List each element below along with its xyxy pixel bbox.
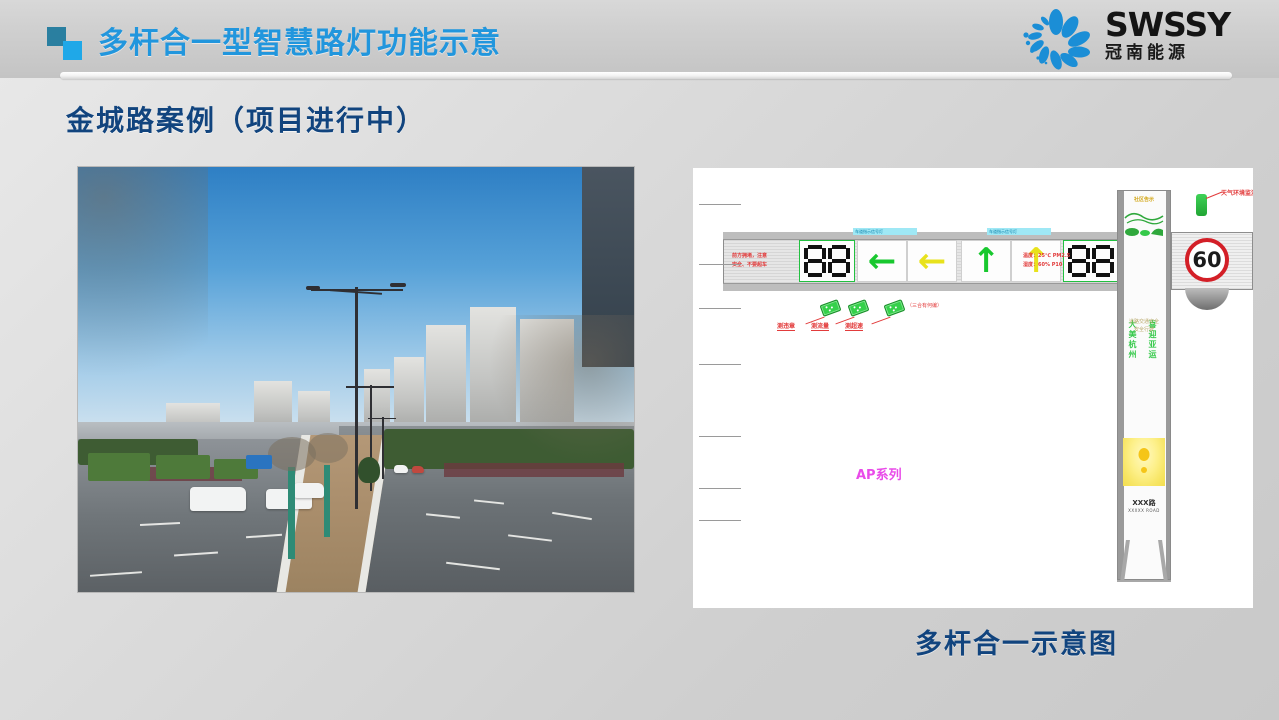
pole-segment-divider [699,520,741,521]
pole-grey-notice: 道路交通安全 安全行驶 [1123,318,1165,334]
pole-notice-title: 社区告示 [1123,196,1165,203]
lamp-dot-small [1141,467,1147,473]
photo-car-distant [394,465,408,473]
photo-hedge-bush [358,457,380,483]
photo-streetlamp-head [306,286,320,290]
photo-streetlamp-arm-second [346,386,394,388]
water-droplet-flower-icon [1013,8,1099,70]
photo-tree-trunk [288,467,295,559]
gantry-beam-bottom-rail [723,283,1155,291]
ap-series-label: AP系列 [856,464,902,483]
diagram-caption: 多杆合一示意图 [915,622,1118,661]
page-title: 多杆合一型智慧路灯功能示意 [98,18,501,62]
env-line-humidity: 湿度：60% P10 [1023,261,1107,270]
pole-segment-divider [699,264,741,265]
sensor-label-3: 测超速 [845,321,863,331]
arrow-left-yellow-icon: ← [918,244,947,278]
pole-base [1117,540,1171,582]
env-line-temperature: 温度：25℃ PM2.5 [1023,252,1107,261]
photo-tree-foreground-left [78,167,208,467]
pole-schematic-panel: 车道指示信号灯 车道指示信号灯 前方拥堵，注意 安全、不要超车 ← ← ↑ ↑ … [693,168,1253,608]
sensor-label-1: 测违章 [777,321,795,331]
section-subtitle: 金城路案例（项目进行中） [66,99,426,139]
pole-segment-divider [699,204,741,205]
smart-pole [1117,190,1171,580]
photo-car-distant [412,466,424,473]
street-lamp-panel-icon [1123,438,1165,486]
vms-left-line1: 前方拥堵，注意 [732,252,800,261]
arrow-up-green-icon: ↑ [972,244,1001,278]
street-photo [77,166,635,593]
lane-arrow-1: ← [857,240,907,282]
vms-left-line2: 安全、不要超车 [732,261,800,270]
photo-tree-trunk [324,465,330,537]
speed-limit-sign: 60 [1185,238,1229,282]
arrow-left-green-icon: ← [868,244,897,278]
logo-brand-cn: 冠南能源 [1105,42,1230,64]
pole-grey-line2: 安全行驶 [1123,326,1165,334]
sensor-note: （三合有何编） [907,302,942,309]
road-name-en: XXXXX ROAD [1123,508,1165,513]
weather-sensor-label: 天气环境监测终端 [1221,188,1253,197]
gantry-beam-top-rail [723,232,1155,240]
lane-signal-label-left: 车道指示信号灯 [853,228,917,235]
pole-segment-divider [699,308,741,309]
page-header: 多杆合一型智慧路灯功能示意 SWSSY 冠南能源 [0,0,1279,78]
photo-road-sign [246,455,272,469]
pole-grey-line1: 道路交通安全 [1123,318,1165,326]
lane-arrow-3: ↑ [961,240,1011,282]
logo-text: SWSSY 冠南能源 [1105,8,1230,64]
seven-segment-digit [804,245,826,277]
photo-tree-canopy [308,433,348,463]
countdown-display-left [799,240,855,282]
road-name-plate: XXX路 XXXXX ROAD [1123,498,1165,513]
pole-segment-divider [699,436,741,437]
two-squares-icon [47,27,85,59]
lane-arrow-2: ← [907,240,957,282]
photo-car-white [190,487,246,511]
photo-streetlamp-arm-third [368,418,396,419]
lane-signal-label-right: 车道指示信号灯 [987,228,1051,235]
pole-segment-divider [699,488,741,489]
photo-streetlamp-head [390,283,406,287]
photo-tree-foreground-right [484,315,634,475]
photo-streetlamp-pole-third [382,417,384,479]
photo-building [394,357,424,429]
logo-brand-latin: SWSSY [1105,8,1230,42]
vms-message-left: 前方拥堵，注意 安全、不要超车 [729,240,800,282]
photo-building [426,325,466,429]
seven-segment-digit [828,245,850,277]
lamp-dot-large [1139,448,1150,461]
sensor-label-2: 测流量 [811,321,829,331]
company-logo: SWSSY 冠南能源 [1013,6,1255,72]
road-name-cn: XXX路 [1123,498,1165,508]
header-divider [60,72,1232,79]
environment-readout: 温度：25℃ PM2.5 湿度：60% P10 [1023,242,1107,280]
pole-landscape-art-icon [1123,206,1165,240]
photo-car-white [294,483,324,498]
square-light [63,41,82,60]
pole-segment-divider [699,364,741,365]
